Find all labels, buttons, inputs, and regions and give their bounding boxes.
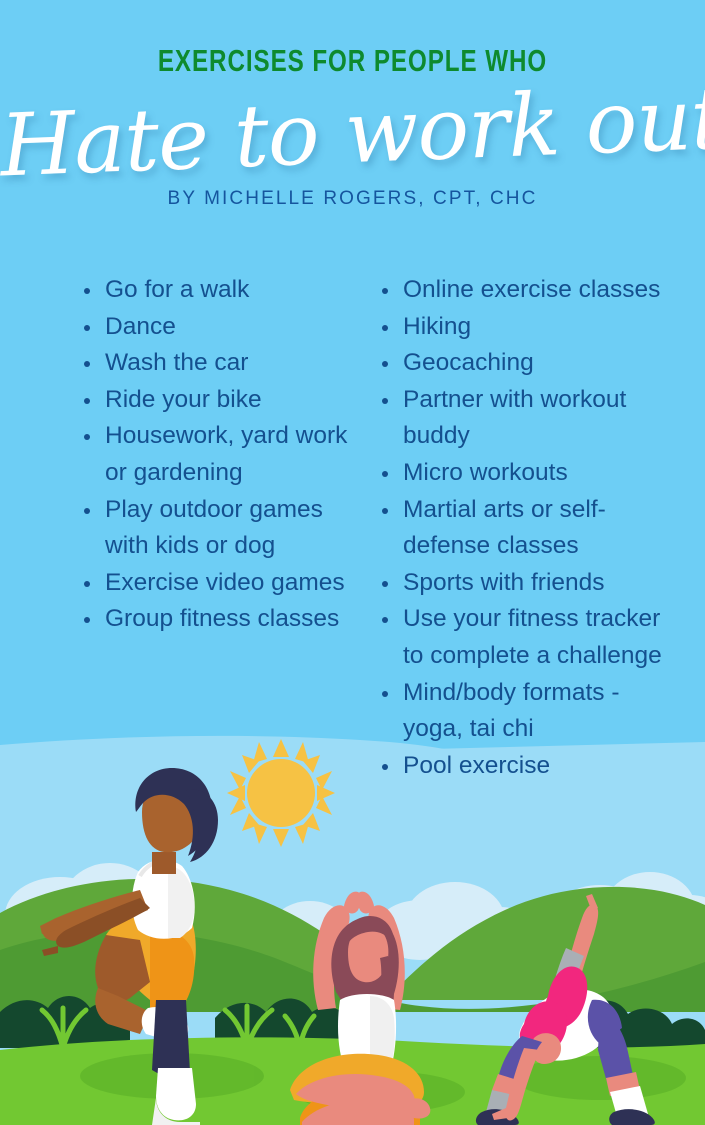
list-item: Dance bbox=[78, 309, 368, 346]
list-item-label: Mind/body formats - yoga, tai chi bbox=[403, 679, 620, 743]
bullet-icon bbox=[382, 288, 388, 294]
bullet-icon bbox=[382, 325, 388, 331]
list-item: Ride your bike bbox=[78, 382, 368, 419]
exercise-list-columns: Go for a walkDanceWash the carRide your … bbox=[0, 272, 705, 784]
list-item: Housework, yard work or gardening bbox=[78, 418, 368, 491]
bullet-icon bbox=[84, 434, 90, 440]
bullet-icon bbox=[382, 398, 388, 404]
list-item: Wash the car bbox=[78, 345, 368, 382]
list-item-label: Geocaching bbox=[403, 349, 534, 376]
eyebrow-heading: EXERCISES FOR PEOPLE WHO bbox=[78, 45, 628, 76]
bullet-icon bbox=[84, 581, 90, 587]
list-item-label: Ride your bike bbox=[105, 386, 262, 413]
list-item-label: Group fitness classes bbox=[105, 605, 339, 632]
bullet-icon bbox=[382, 361, 388, 367]
list-item: Sports with friends bbox=[376, 565, 671, 602]
list-item: Mind/body formats - yoga, tai chi bbox=[376, 675, 671, 748]
list-item-label: Dance bbox=[105, 313, 176, 340]
bullet-icon bbox=[84, 508, 90, 514]
right-column: Online exercise classesHikingGeocachingP… bbox=[376, 272, 671, 784]
list-item-label: Use your fitness tracker to complete a c… bbox=[403, 605, 662, 669]
list-item: Partner with workout buddy bbox=[376, 382, 671, 455]
list-item: Group fitness classes bbox=[78, 601, 368, 638]
bullet-icon bbox=[84, 325, 90, 331]
list-item: Pool exercise bbox=[376, 748, 671, 785]
bullet-icon bbox=[84, 398, 90, 404]
list-item-label: Sports with friends bbox=[403, 569, 605, 596]
list-item: Micro workouts bbox=[376, 455, 671, 492]
list-item: Online exercise classes bbox=[376, 272, 671, 309]
list-item-label: Hiking bbox=[403, 313, 471, 340]
list-item-label: Exercise video games bbox=[105, 569, 345, 596]
list-item-label: Partner with workout buddy bbox=[403, 386, 626, 450]
bullet-icon bbox=[382, 691, 388, 697]
list-item-label: Micro workouts bbox=[403, 459, 568, 486]
list-item: Martial arts or self-defense classes bbox=[376, 492, 671, 565]
bullet-icon bbox=[382, 764, 388, 770]
list-item: Go for a walk bbox=[78, 272, 368, 309]
bullet-icon bbox=[382, 581, 388, 587]
bullet-icon bbox=[382, 508, 388, 514]
list-item-label: Play outdoor games with kids or dog bbox=[105, 496, 323, 560]
list-item: Hiking bbox=[376, 309, 671, 346]
list-item-label: Online exercise classes bbox=[403, 276, 660, 303]
page-title: Hate to work out bbox=[0, 75, 705, 192]
list-item: Use your fitness tracker to complete a c… bbox=[376, 601, 671, 674]
infographic-poster: EXERCISES FOR PEOPLE WHO Hate to work ou… bbox=[0, 0, 705, 1125]
right-exercise-list: Online exercise classesHikingGeocachingP… bbox=[376, 272, 671, 784]
left-column: Go for a walkDanceWash the carRide your … bbox=[78, 272, 368, 638]
list-item-label: Martial arts or self-defense classes bbox=[403, 496, 606, 560]
poster-header: EXERCISES FOR PEOPLE WHO Hate to work ou… bbox=[0, 0, 705, 210]
list-item-label: Pool exercise bbox=[403, 752, 550, 779]
list-item-label: Housework, yard work or gardening bbox=[105, 422, 347, 486]
list-item-label: Go for a walk bbox=[105, 276, 249, 303]
list-item-label: Wash the car bbox=[105, 349, 248, 376]
list-item: Geocaching bbox=[376, 345, 671, 382]
bullet-icon bbox=[382, 617, 388, 623]
bullet-icon bbox=[84, 361, 90, 367]
list-item: Play outdoor games with kids or dog bbox=[78, 492, 368, 565]
left-exercise-list: Go for a walkDanceWash the carRide your … bbox=[78, 272, 368, 638]
bullet-icon bbox=[382, 471, 388, 477]
list-item: Exercise video games bbox=[78, 565, 368, 602]
bullet-icon bbox=[84, 617, 90, 623]
bullet-icon bbox=[84, 288, 90, 294]
